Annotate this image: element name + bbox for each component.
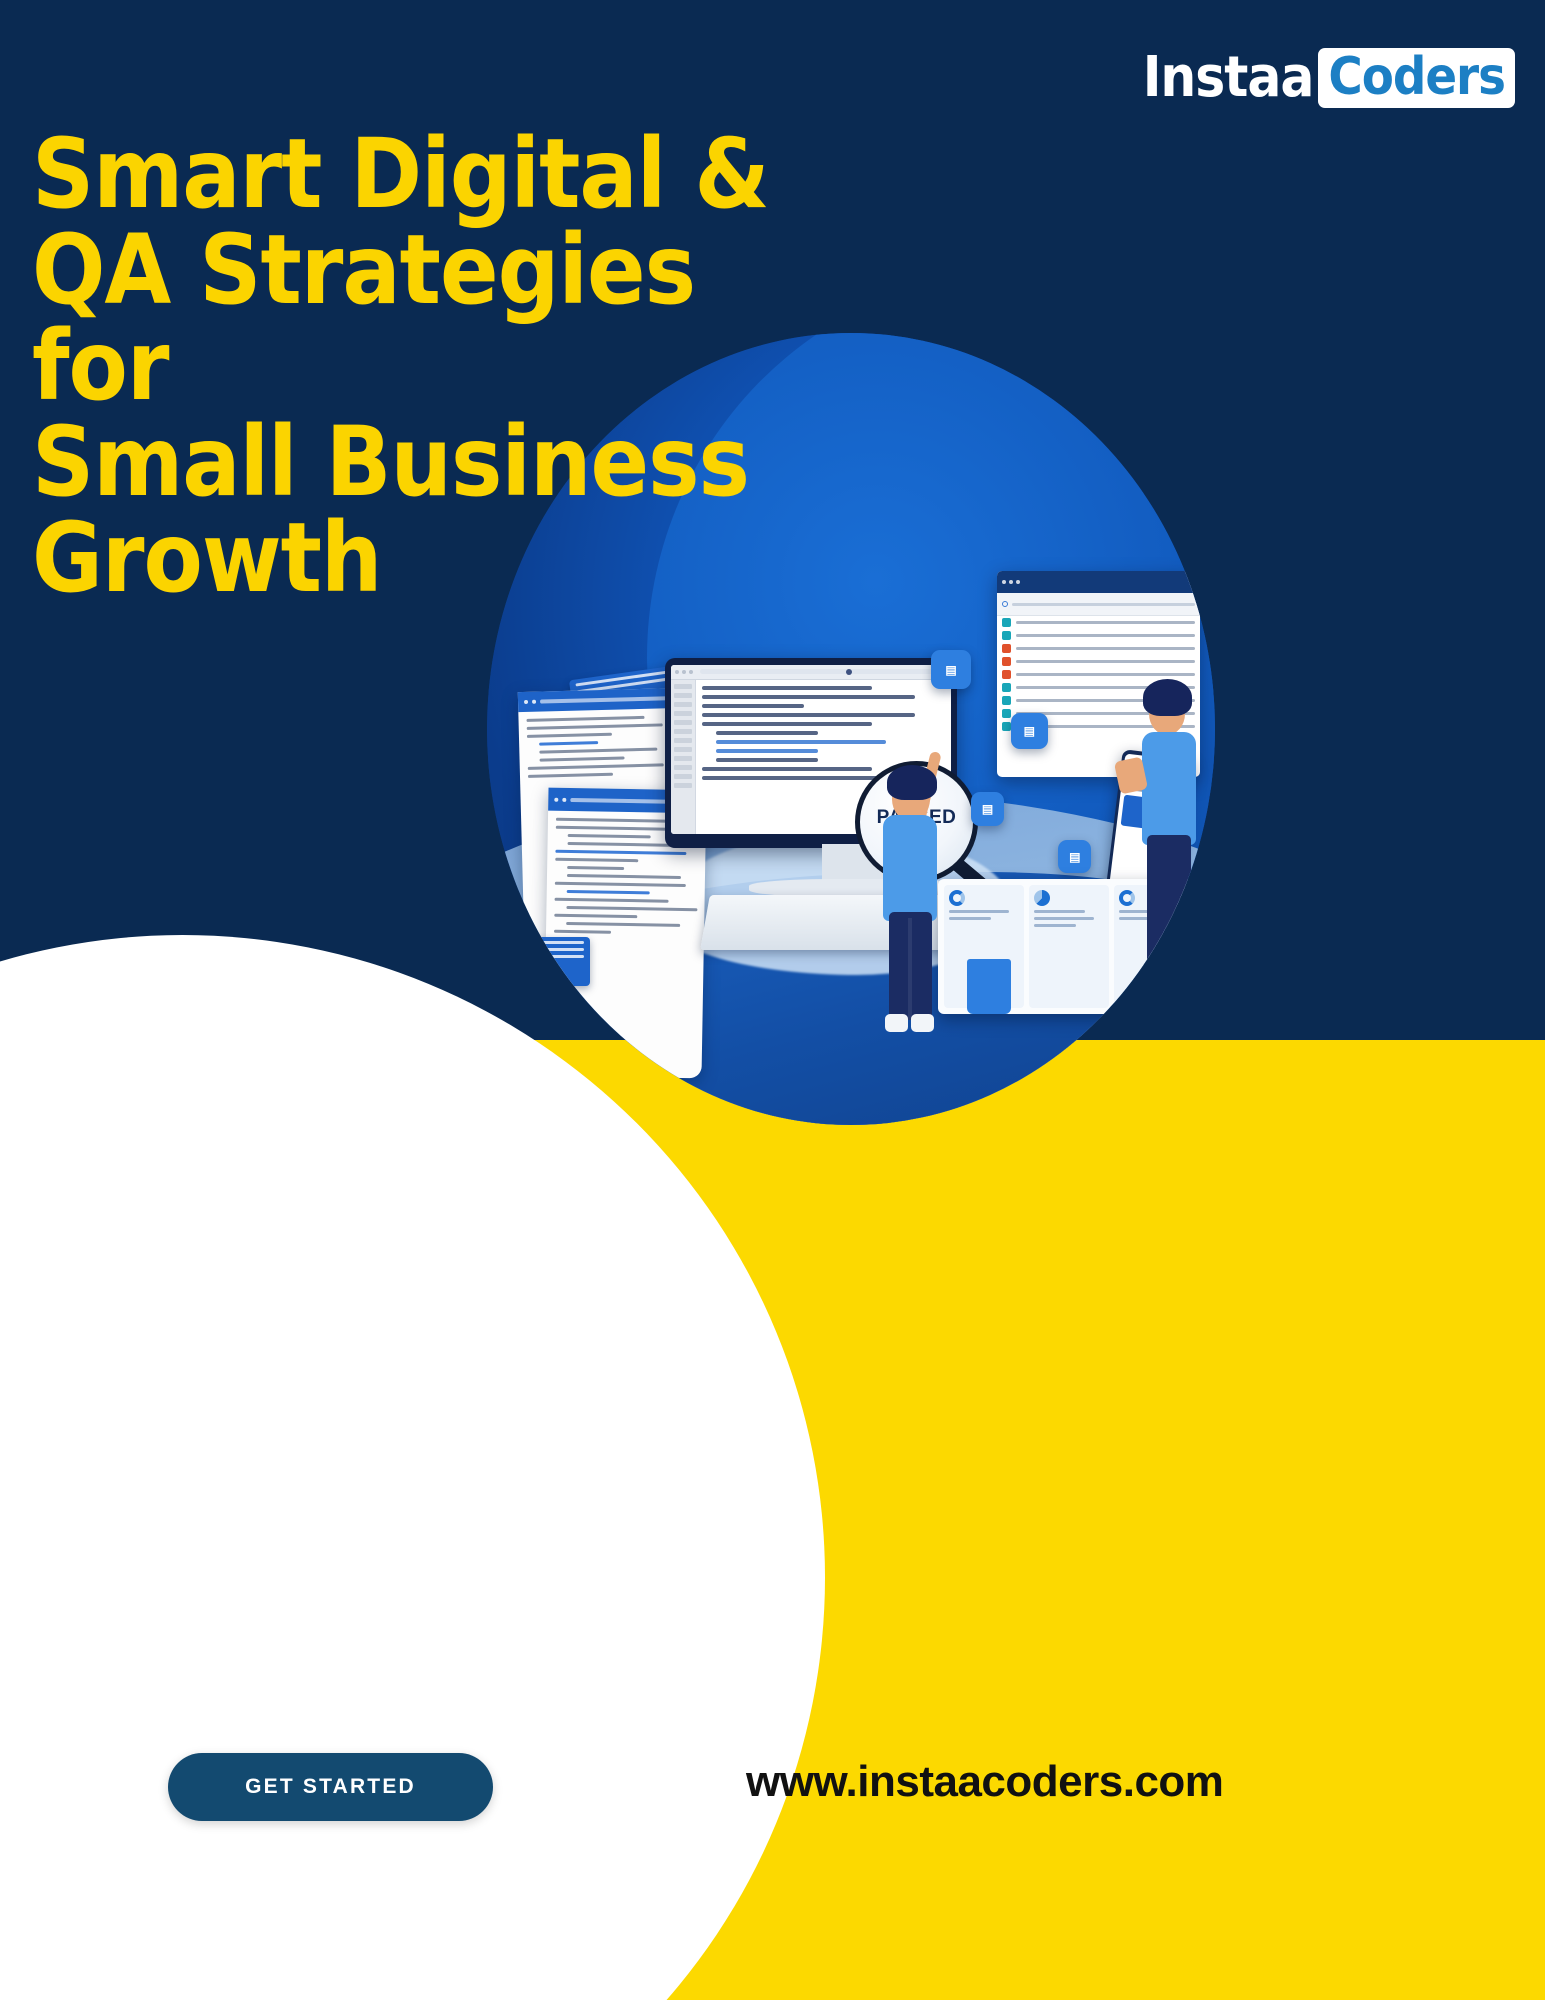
app-tile-icon: ▤ bbox=[1011, 713, 1047, 749]
person-using-phone bbox=[1128, 666, 1215, 999]
person-pointing-at-monitor bbox=[873, 745, 960, 1038]
test-row bbox=[997, 629, 1201, 642]
logo-text-coders: Coders bbox=[1328, 51, 1505, 103]
website-url[interactable]: www.instaacoders.com bbox=[746, 1757, 1223, 1807]
test-row bbox=[997, 642, 1201, 655]
logo-badge: Coders bbox=[1318, 48, 1515, 108]
dashboard-card bbox=[1029, 885, 1109, 1008]
app-tile-icon: ▤ bbox=[971, 792, 1004, 825]
trash-bin bbox=[967, 959, 1011, 1014]
window-search-bar bbox=[997, 593, 1201, 616]
search-icon bbox=[1002, 601, 1008, 607]
line-number-gutter bbox=[671, 680, 696, 834]
get-started-button[interactable]: GET STARTED bbox=[168, 1753, 493, 1821]
browser-toolbar bbox=[671, 665, 950, 680]
floating-tag bbox=[506, 937, 590, 986]
app-tile-icon: ▤ bbox=[1058, 840, 1091, 873]
poster-page: PASSED ▤ ▤ ▤ ▤ ▤ bbox=[0, 0, 1545, 2000]
address-bar bbox=[700, 669, 946, 674]
logo-text-instaa: Instaa bbox=[1143, 50, 1314, 106]
page-title: Smart Digital & QA Strategies for Small … bbox=[32, 126, 832, 606]
test-row bbox=[997, 616, 1201, 629]
document-text-lines bbox=[518, 707, 683, 789]
app-tile-icon: ▤ bbox=[931, 650, 971, 690]
brand-logo: Instaa Coders bbox=[1143, 48, 1515, 108]
monitor-camera bbox=[846, 669, 852, 675]
window-titlebar bbox=[997, 571, 1201, 594]
pie-chart-icon bbox=[1034, 890, 1050, 906]
